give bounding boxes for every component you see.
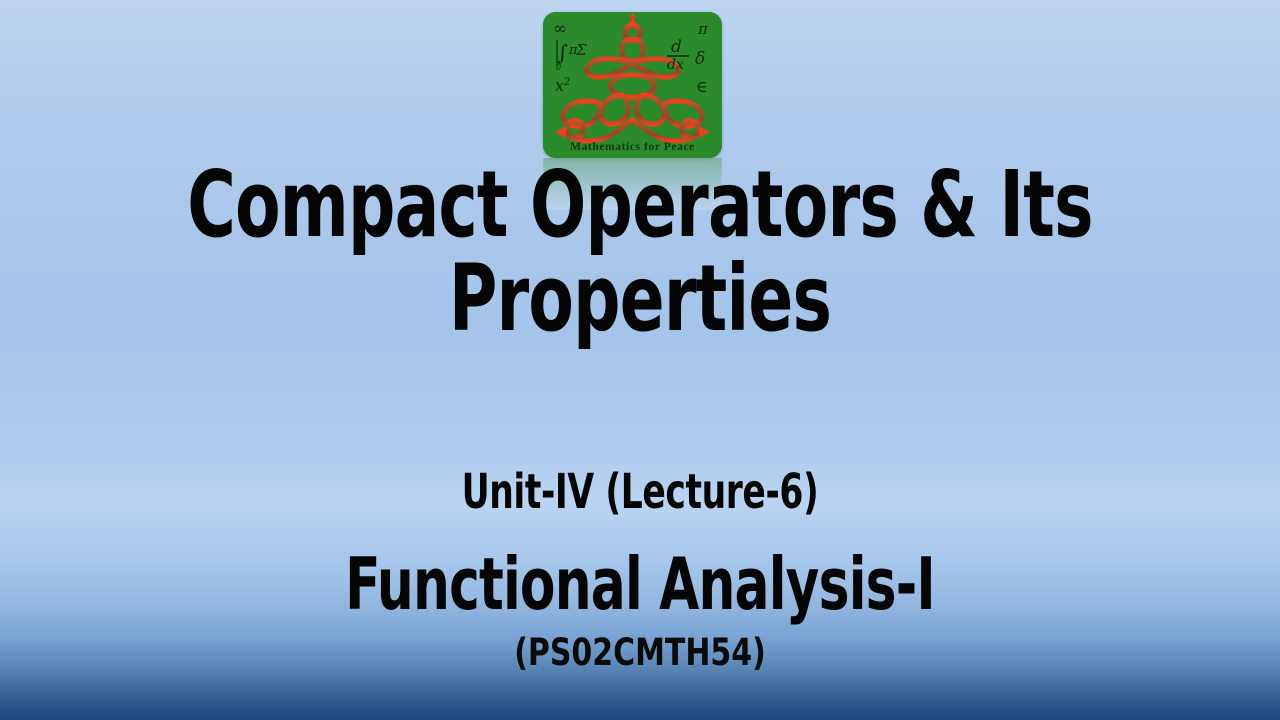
- svg-text:δ: δ: [695, 49, 705, 69]
- page-title-line-2: Properties: [128, 252, 1152, 346]
- svg-text:∈: ∈: [696, 77, 708, 96]
- page-title-line-1: Compact Operators & Its: [128, 158, 1152, 252]
- svg-text:∞: ∞: [553, 19, 567, 39]
- svg-text:x: x: [555, 76, 564, 95]
- slide-canvas: ∞ ∫ π Σ 0 x 2 d dx δ π ∈ Mathematics for…: [0, 0, 1280, 720]
- svg-text:dx: dx: [667, 57, 684, 73]
- course-code: (PS02CMTH54): [64, 634, 1216, 673]
- logo-artwork: ∞ ∫ π Σ 0 x 2 d dx δ π ∈: [543, 12, 722, 158]
- svg-text:Σ: Σ: [575, 41, 587, 59]
- svg-text:d: d: [671, 37, 682, 57]
- svg-text:2: 2: [563, 77, 570, 88]
- svg-text:π: π: [697, 20, 709, 38]
- institution-logo: ∞ ∫ π Σ 0 x 2 d dx δ π ∈ Mathematics for…: [543, 12, 722, 158]
- unit-lecture-label: Unit-IV (Lecture-6): [128, 468, 1152, 517]
- course-title: Functional Analysis-I: [128, 548, 1152, 621]
- svg-text:∫: ∫: [557, 41, 568, 65]
- logo-card: ∞ ∫ π Σ 0 x 2 d dx δ π ∈ Mathematics for…: [543, 12, 722, 158]
